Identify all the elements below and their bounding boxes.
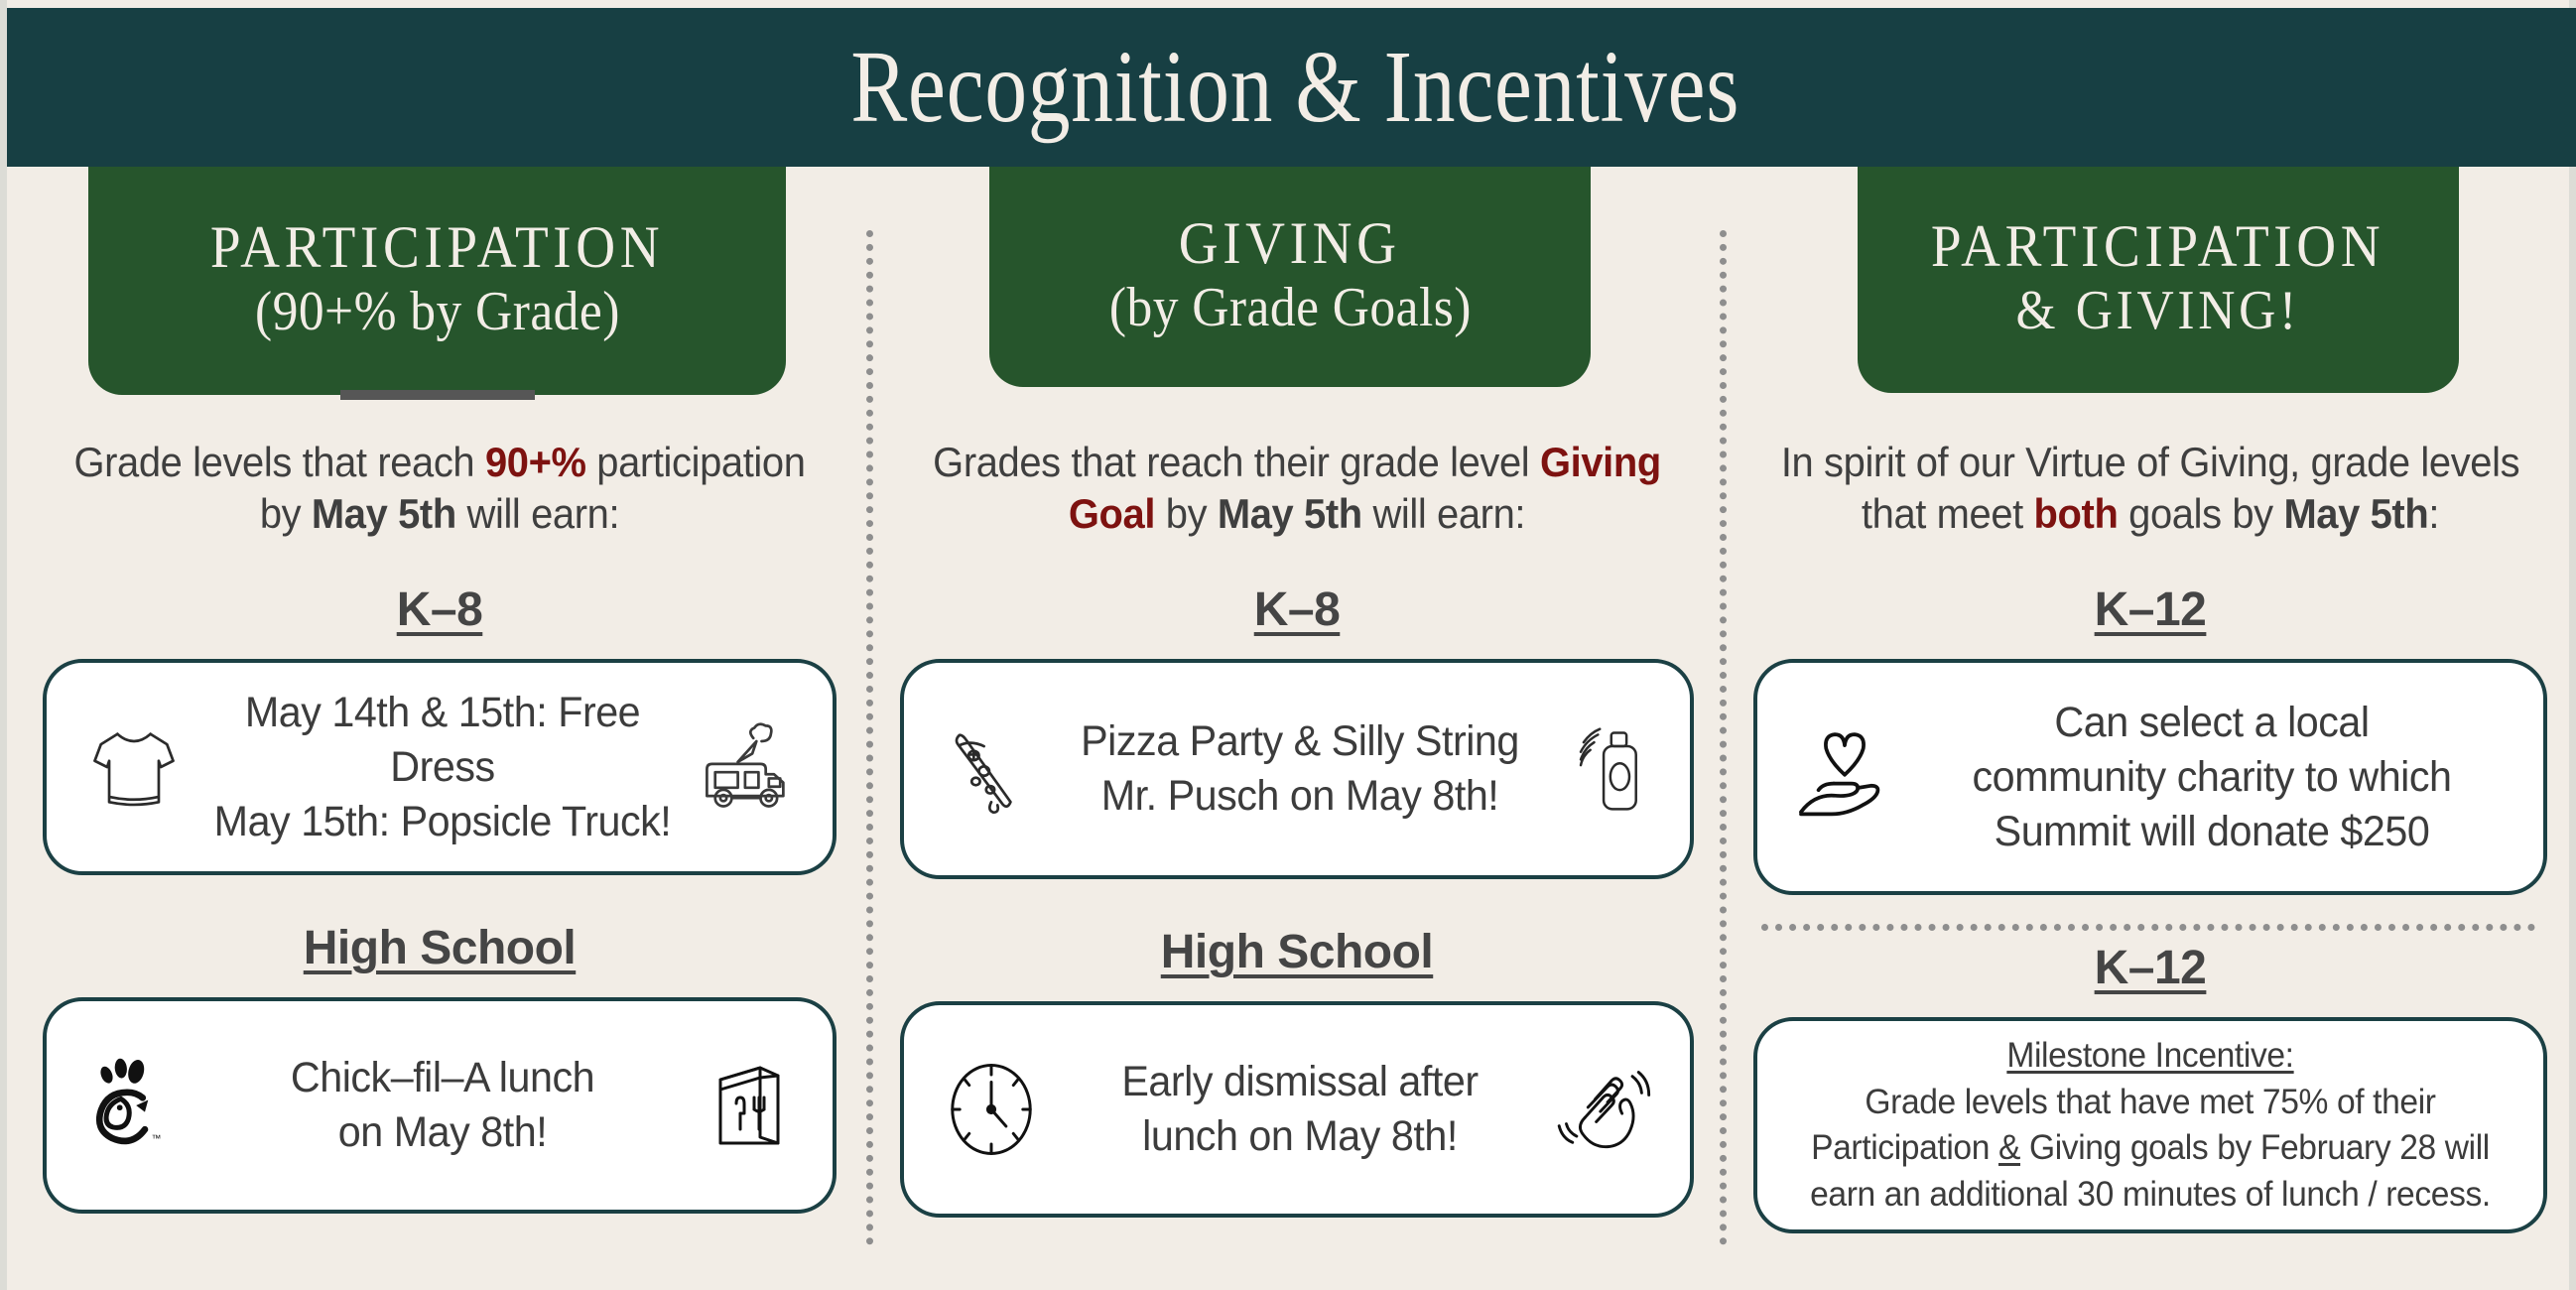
- incentive-card[interactable]: May 14th & 15th: Free Dress May 15th: Po…: [43, 659, 837, 875]
- incentive-card[interactable]: ™ Chick–fil–A lunch on May 8th!: [43, 997, 837, 1214]
- grade-label-high-school: High School: [900, 925, 1694, 979]
- poster-page: Recognition & Incentives PARTICIPATION (…: [0, 0, 2576, 1290]
- grade-label-k12-top: K–12: [1753, 582, 2547, 637]
- column-participation: Grade levels that reach 90+% participati…: [43, 437, 837, 1214]
- grade-label-k12-bottom: K–12: [1753, 941, 2547, 995]
- intro-accent: both: [2034, 490, 2119, 537]
- column-giving: Grades that reach their grade level Givi…: [900, 437, 1694, 1218]
- card-line-2: Participation & Giving goals by February…: [1811, 1128, 2490, 1167]
- card-text: Early dismissal after lunch on May 8th!: [1063, 1055, 1537, 1164]
- grade-label-k8: K–8: [900, 582, 1694, 637]
- card-line-1: May 14th & 15th: Free Dress: [245, 689, 640, 791]
- incentive-card[interactable]: Pizza Party & Silly String Mr. Pusch on …: [900, 659, 1694, 879]
- card-heading: Milestone Incentive:: [2006, 1036, 2293, 1075]
- incentive-card[interactable]: Early dismissal after lunch on May 8th!: [900, 1001, 1694, 1218]
- intro-bold-date: May 5th: [2283, 490, 2428, 537]
- card-line-2: lunch on May 8th!: [1142, 1112, 1458, 1160]
- intro-part3: :: [2428, 490, 2439, 537]
- takeout-bag-icon: [690, 1054, 807, 1157]
- card-line-1: Chick–fil–A lunch: [291, 1054, 594, 1101]
- clock-icon: [930, 1057, 1053, 1162]
- intro-part2: goals by: [2118, 490, 2283, 537]
- svg-text:™: ™: [152, 1134, 162, 1145]
- card-text: Milestone Incentive: Grade levels that h…: [1798, 1033, 2503, 1218]
- card-line-2: May 15th: Popsicle Truck!: [214, 798, 672, 845]
- spray-can-icon: [1547, 717, 1664, 821]
- page-header: Recognition & Incentives: [7, 8, 2576, 167]
- ice-cream-truck-icon: [690, 715, 807, 819]
- column-header-tab-participation-and-giving: PARTICIPATION & GIVING!: [1858, 167, 2459, 393]
- intro-part3: will earn:: [456, 490, 619, 537]
- pizza-slice-icon: [930, 717, 1053, 821]
- tab-title-line2: & GIVING!: [2016, 278, 2300, 344]
- column-intro-text: Grades that reach their grade level Givi…: [920, 437, 1674, 539]
- card-line-2: on May 8th!: [338, 1108, 547, 1156]
- column-divider-1: [866, 230, 873, 1245]
- tab-title-line1: PARTICIPATION: [210, 216, 664, 280]
- column-intro-text: In spirit of our Virtue of Giving, grade…: [1773, 437, 2527, 539]
- column-intro-text: Grade levels that reach 90+% participati…: [63, 437, 817, 539]
- intro-part1: Grade levels that reach: [73, 439, 484, 485]
- tab-title-line2: (90+% by Grade): [255, 279, 620, 345]
- card-line-2: Mr. Pusch on May 8th!: [1101, 772, 1499, 820]
- tab-title-line1: GIVING: [1179, 212, 1401, 276]
- intro-part3: will earn:: [1362, 490, 1525, 537]
- intro-accent: 90+%: [485, 439, 586, 485]
- grade-label-k8: K–8: [43, 582, 837, 637]
- card-line-2: community charity to which: [1972, 753, 2451, 801]
- incentive-card[interactable]: Can select a local community charity to …: [1753, 659, 2547, 895]
- column-divider-2: [1720, 230, 1727, 1245]
- card-line-1: Pizza Party & Silly String: [1081, 717, 1519, 765]
- waving-hand-icon: [1547, 1058, 1664, 1161]
- column-participation-and-giving: In spirit of our Virtue of Giving, grade…: [1753, 437, 2547, 1233]
- intro-bold-date: May 5th: [312, 490, 456, 537]
- heart-in-hand-icon: [1783, 722, 1906, 832]
- grade-label-high-school: High School: [43, 921, 837, 975]
- intro-bold-date: May 5th: [1218, 490, 1362, 537]
- intro-part1: Grades that reach their grade level: [933, 439, 1540, 485]
- card-text: May 14th & 15th: Free Dress May 15th: Po…: [205, 686, 680, 849]
- card-text: Chick–fil–A lunch on May 8th!: [205, 1051, 680, 1160]
- chick-fil-a-logo-icon: ™: [72, 1051, 195, 1160]
- milestone-incentive-card[interactable]: Milestone Incentive: Grade levels that h…: [1753, 1017, 2547, 1233]
- card-line-1: Grade levels that have met 75% of their: [1865, 1083, 2435, 1121]
- card-text: Can select a local community charity to …: [1918, 696, 2505, 859]
- page-title: Recognition & Incentives: [850, 36, 1739, 139]
- card-text: Pizza Party & Silly String Mr. Pusch on …: [1063, 714, 1537, 824]
- card-line-3: earn an additional 30 minutes of lunch /…: [1810, 1175, 2491, 1214]
- card-line-1: Can select a local: [2054, 699, 2369, 746]
- tshirt-icon: [72, 715, 195, 819]
- intro-part2: by: [1155, 490, 1218, 537]
- card-line-3: Summit will donate $250: [1995, 808, 2430, 855]
- column-header-tab-participation: PARTICIPATION (90+% by Grade): [88, 167, 786, 395]
- tab-selection-handle[interactable]: [340, 390, 535, 400]
- column-header-tab-giving: GIVING (by Grade Goals): [989, 167, 1591, 387]
- card-line-1: Early dismissal after: [1121, 1058, 1478, 1105]
- tab-title-line1: PARTICIPATION: [1931, 215, 2384, 279]
- tab-title-line2: (by Grade Goals): [1108, 275, 1471, 341]
